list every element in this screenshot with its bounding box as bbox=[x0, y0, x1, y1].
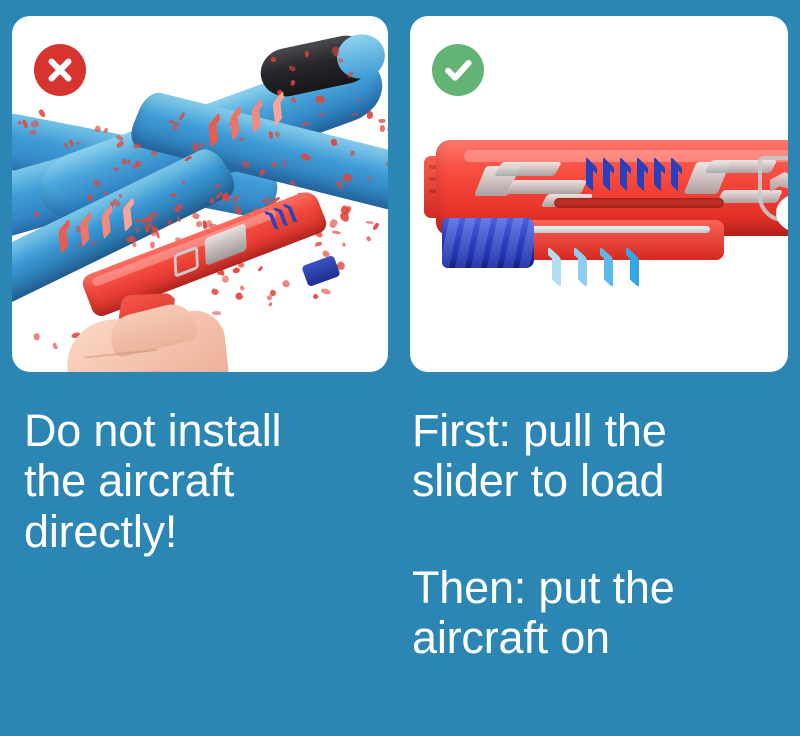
launcher-decal-3 bbox=[507, 180, 587, 194]
launcher-text-slot bbox=[554, 198, 724, 208]
caption-column-left: Do not install the aircraft directly! bbox=[24, 372, 394, 557]
check-icon bbox=[441, 53, 475, 87]
caption-step-then: Then: put the aircraft on bbox=[412, 563, 792, 664]
motion-arrows-right bbox=[548, 248, 658, 290]
caption-column-right: First: pull the slider to load Then: put… bbox=[412, 372, 792, 664]
launcher-blue-chevron-strip bbox=[586, 162, 706, 194]
caption-do-not-install: Do not install the aircraft directly! bbox=[24, 406, 394, 557]
launcher-decal-2 bbox=[494, 162, 562, 176]
cross-badge bbox=[34, 44, 86, 96]
panel-correct-example bbox=[410, 16, 788, 372]
blue-slider bbox=[442, 218, 534, 268]
panel-wrong-example bbox=[12, 16, 388, 372]
toy-launcher-right bbox=[424, 134, 788, 254]
caption-area: Do not install the aircraft directly! Fi… bbox=[0, 372, 800, 736]
caption-step-first: First: pull the slider to load bbox=[412, 406, 792, 507]
cross-icon bbox=[43, 53, 77, 87]
check-badge bbox=[432, 44, 484, 96]
